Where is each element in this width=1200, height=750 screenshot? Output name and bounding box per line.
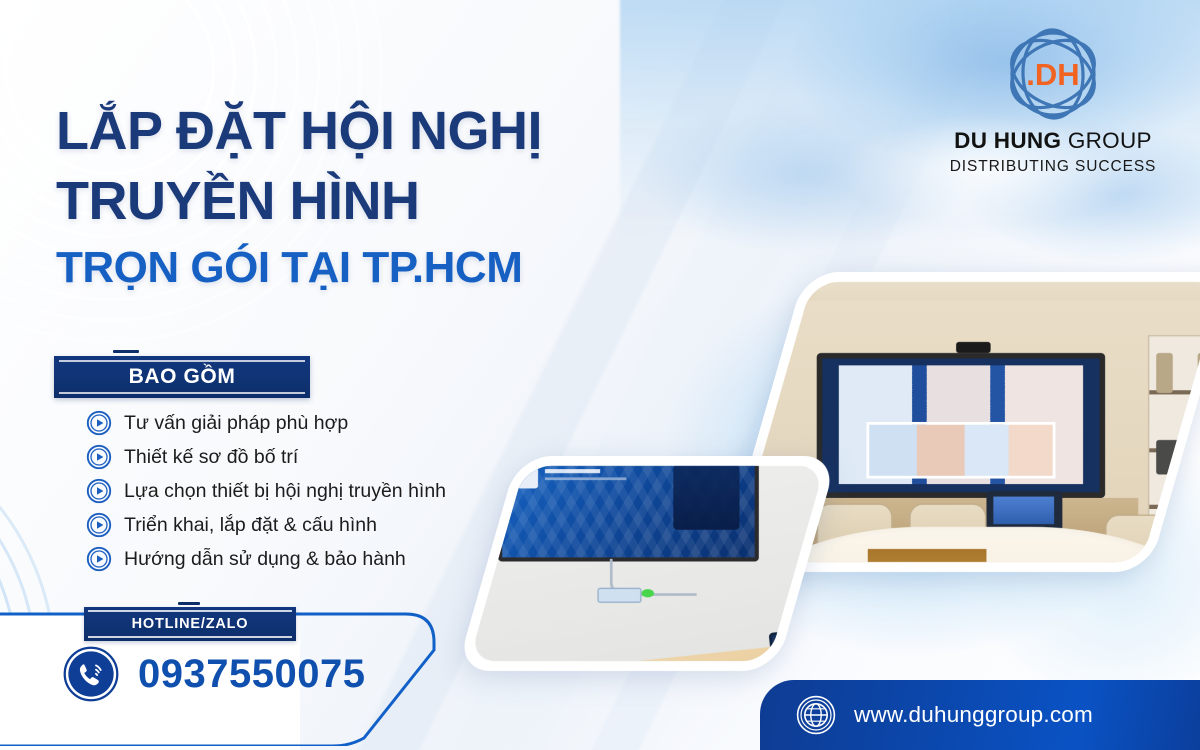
globe-icon [796, 695, 836, 735]
logo-name-bold: DU HUNG [954, 128, 1061, 153]
play-circle-icon [86, 512, 112, 538]
includes-list-item-label: Thiết kế sơ đồ bố trí [124, 446, 298, 469]
hotline-row[interactable]: 0937550075 [62, 645, 365, 703]
includes-badge: BAO GỒM [54, 356, 310, 398]
includes-list-item: Triển khai, lắp đặt & cấu hình [86, 508, 446, 542]
includes-list-item-label: Triển khai, lắp đặt & cấu hình [124, 514, 377, 537]
includes-badge-label: BAO GỒM [129, 365, 236, 389]
logo-name-light: GROUP [1068, 128, 1152, 153]
hotline-tick-mark [178, 602, 200, 605]
meeting-room-scene [469, 466, 825, 661]
play-circle-icon [86, 546, 112, 572]
play-circle-icon [86, 546, 112, 572]
atom-rings-icon: .DH [990, 22, 1116, 126]
website-footer-bar: www.duhunggroup.com [760, 680, 1200, 750]
play-circle-icon [86, 444, 112, 470]
play-circle-icon [86, 444, 112, 470]
logo-mark: .DH [928, 22, 1178, 126]
website-url[interactable]: www.duhunggroup.com [854, 702, 1093, 728]
headline-line-3: TRỌN GÓI TẠI TP.HCM [56, 246, 696, 290]
hotline-badge: HOTLINE/ZALO [84, 607, 296, 641]
includes-list-item-label: Lựa chọn thiết bị hội nghị truyền hình [124, 480, 446, 503]
headline-line-1: LẮP ĐẶT HỘI NGHỊ [56, 104, 696, 158]
photo-meeting-room-frame [469, 466, 825, 661]
includes-list-item: Hướng dẫn sử dụng & bảo hành [86, 542, 446, 576]
promo-banner: LẮP ĐẶT HỘI NGHỊ TRUYỀN HÌNH TRỌN GÓI TẠ… [0, 0, 1200, 750]
includes-list-item: Thiết kế sơ đồ bố trí [86, 440, 446, 474]
play-circle-icon [86, 478, 112, 504]
play-circle-icon [86, 512, 112, 538]
includes-list-item-label: Tư vấn giải pháp phù hợp [124, 412, 348, 435]
company-logo: .DH DU HUNG GROUP DISTRIBUTING SUCCESS [928, 22, 1178, 176]
headline-line-2: TRUYỀN HÌNH [56, 174, 696, 228]
includes-list-item: Tư vấn giải pháp phù hợp [86, 406, 446, 440]
phone-ringing-icon [62, 645, 120, 703]
headline-block: LẮP ĐẶT HỘI NGHỊ TRUYỀN HÌNH TRỌN GÓI TẠ… [56, 104, 696, 290]
includes-list-item-label: Hướng dẫn sử dụng & bảo hành [124, 548, 406, 571]
hotline-badge-label: HOTLINE/ZALO [132, 616, 249, 632]
play-circle-icon [86, 478, 112, 504]
photo-meeting-room [456, 456, 838, 671]
logo-dh-text: .DH [1026, 57, 1079, 92]
badge-tick-mark [113, 350, 139, 353]
includes-list: Tư vấn giải pháp phù hợpThiết kế sơ đồ b… [86, 406, 446, 576]
logo-company-name: DU HUNG GROUP [928, 128, 1178, 154]
includes-list-item: Lựa chọn thiết bị hội nghị truyền hình [86, 474, 446, 508]
hotline-number[interactable]: 0937550075 [138, 652, 365, 697]
logo-tagline: DISTRIBUTING SUCCESS [928, 158, 1178, 176]
play-circle-icon [86, 410, 112, 436]
play-circle-icon [86, 410, 112, 436]
